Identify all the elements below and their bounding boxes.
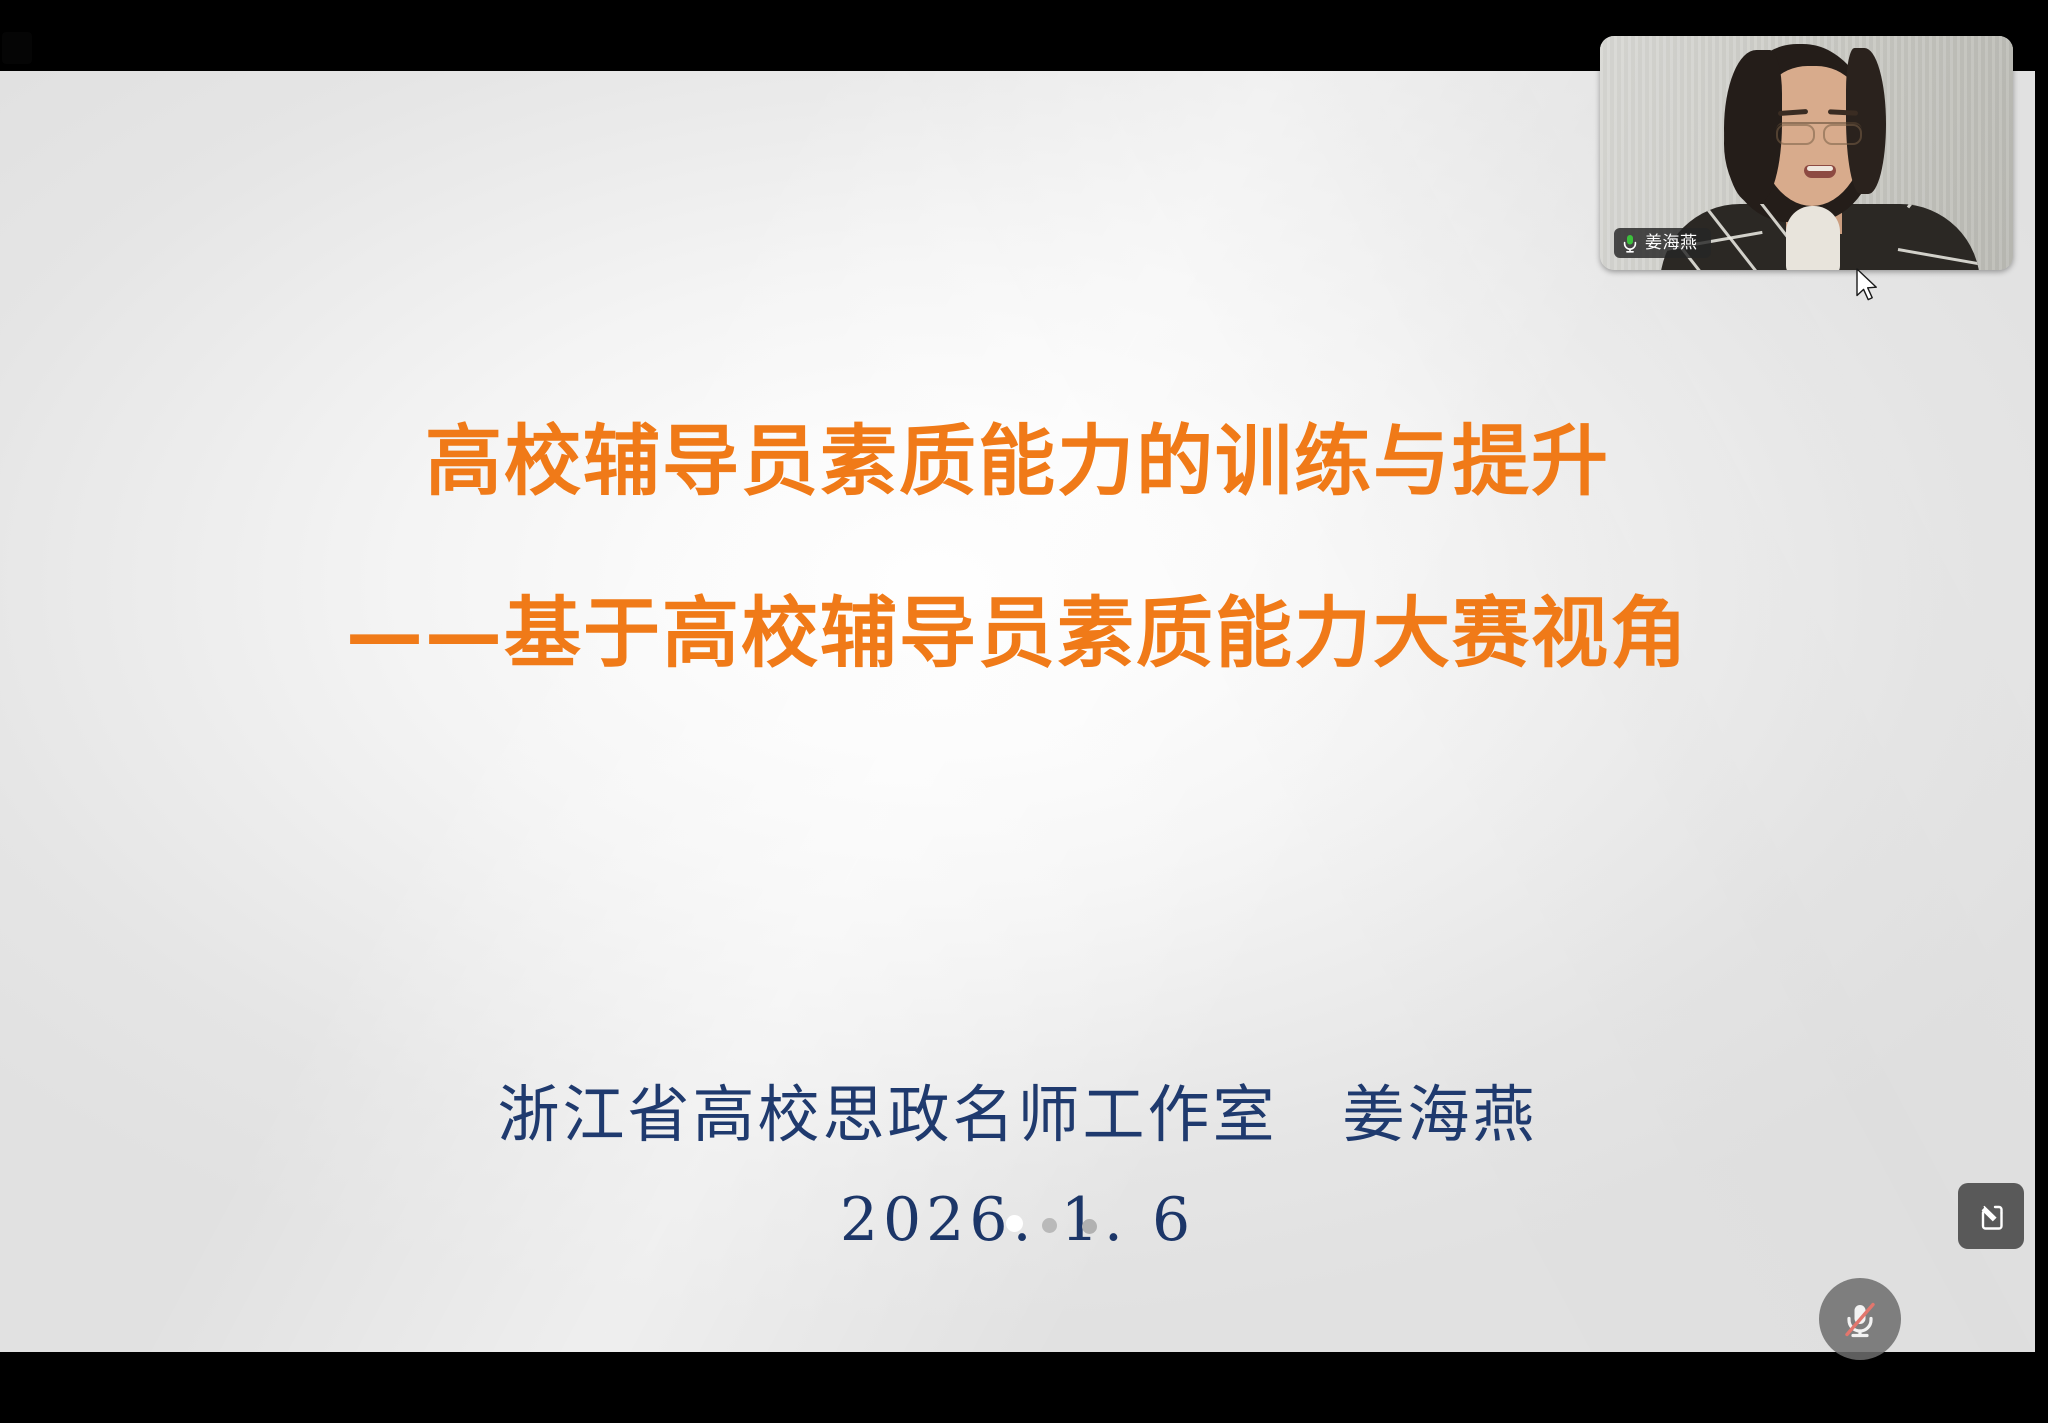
topbar-artifact	[2, 32, 32, 64]
slide-author: 浙江省高校思政名师工作室 姜海燕	[0, 1081, 2035, 1149]
pointer-dot-white	[1006, 1215, 1023, 1232]
mute-button[interactable]	[1819, 1278, 1901, 1360]
participant-name-badge: 姜海燕	[1614, 228, 1711, 258]
microphone-muted-icon	[1837, 1296, 1883, 1342]
microphone-icon	[1622, 234, 1638, 253]
participant-name-label: 姜海燕	[1645, 235, 1698, 252]
page-title: 高校辅导员素质能力的训练与提升	[0, 413, 2035, 513]
annotate-button[interactable]	[1958, 1183, 2024, 1249]
pointer-dot-gray-two	[1082, 1219, 1097, 1234]
slide-title-block: 高校辅导员素质能力的训练与提升 ——基于高校辅导员素质能力大赛视角	[0, 413, 2035, 685]
pointer-dot-gray-one	[1042, 1218, 1057, 1233]
pencil-square-icon	[1972, 1197, 2010, 1235]
slide-subtitle: ——基于高校辅导员素质能力大赛视角	[0, 585, 2035, 685]
screen-root: 高校辅导员素质能力的训练与提升 ——基于高校辅导员素质能力大赛视角 浙江省高校思…	[0, 0, 2048, 1423]
participant-video-tile[interactable]: 姜海燕	[1600, 36, 2013, 270]
